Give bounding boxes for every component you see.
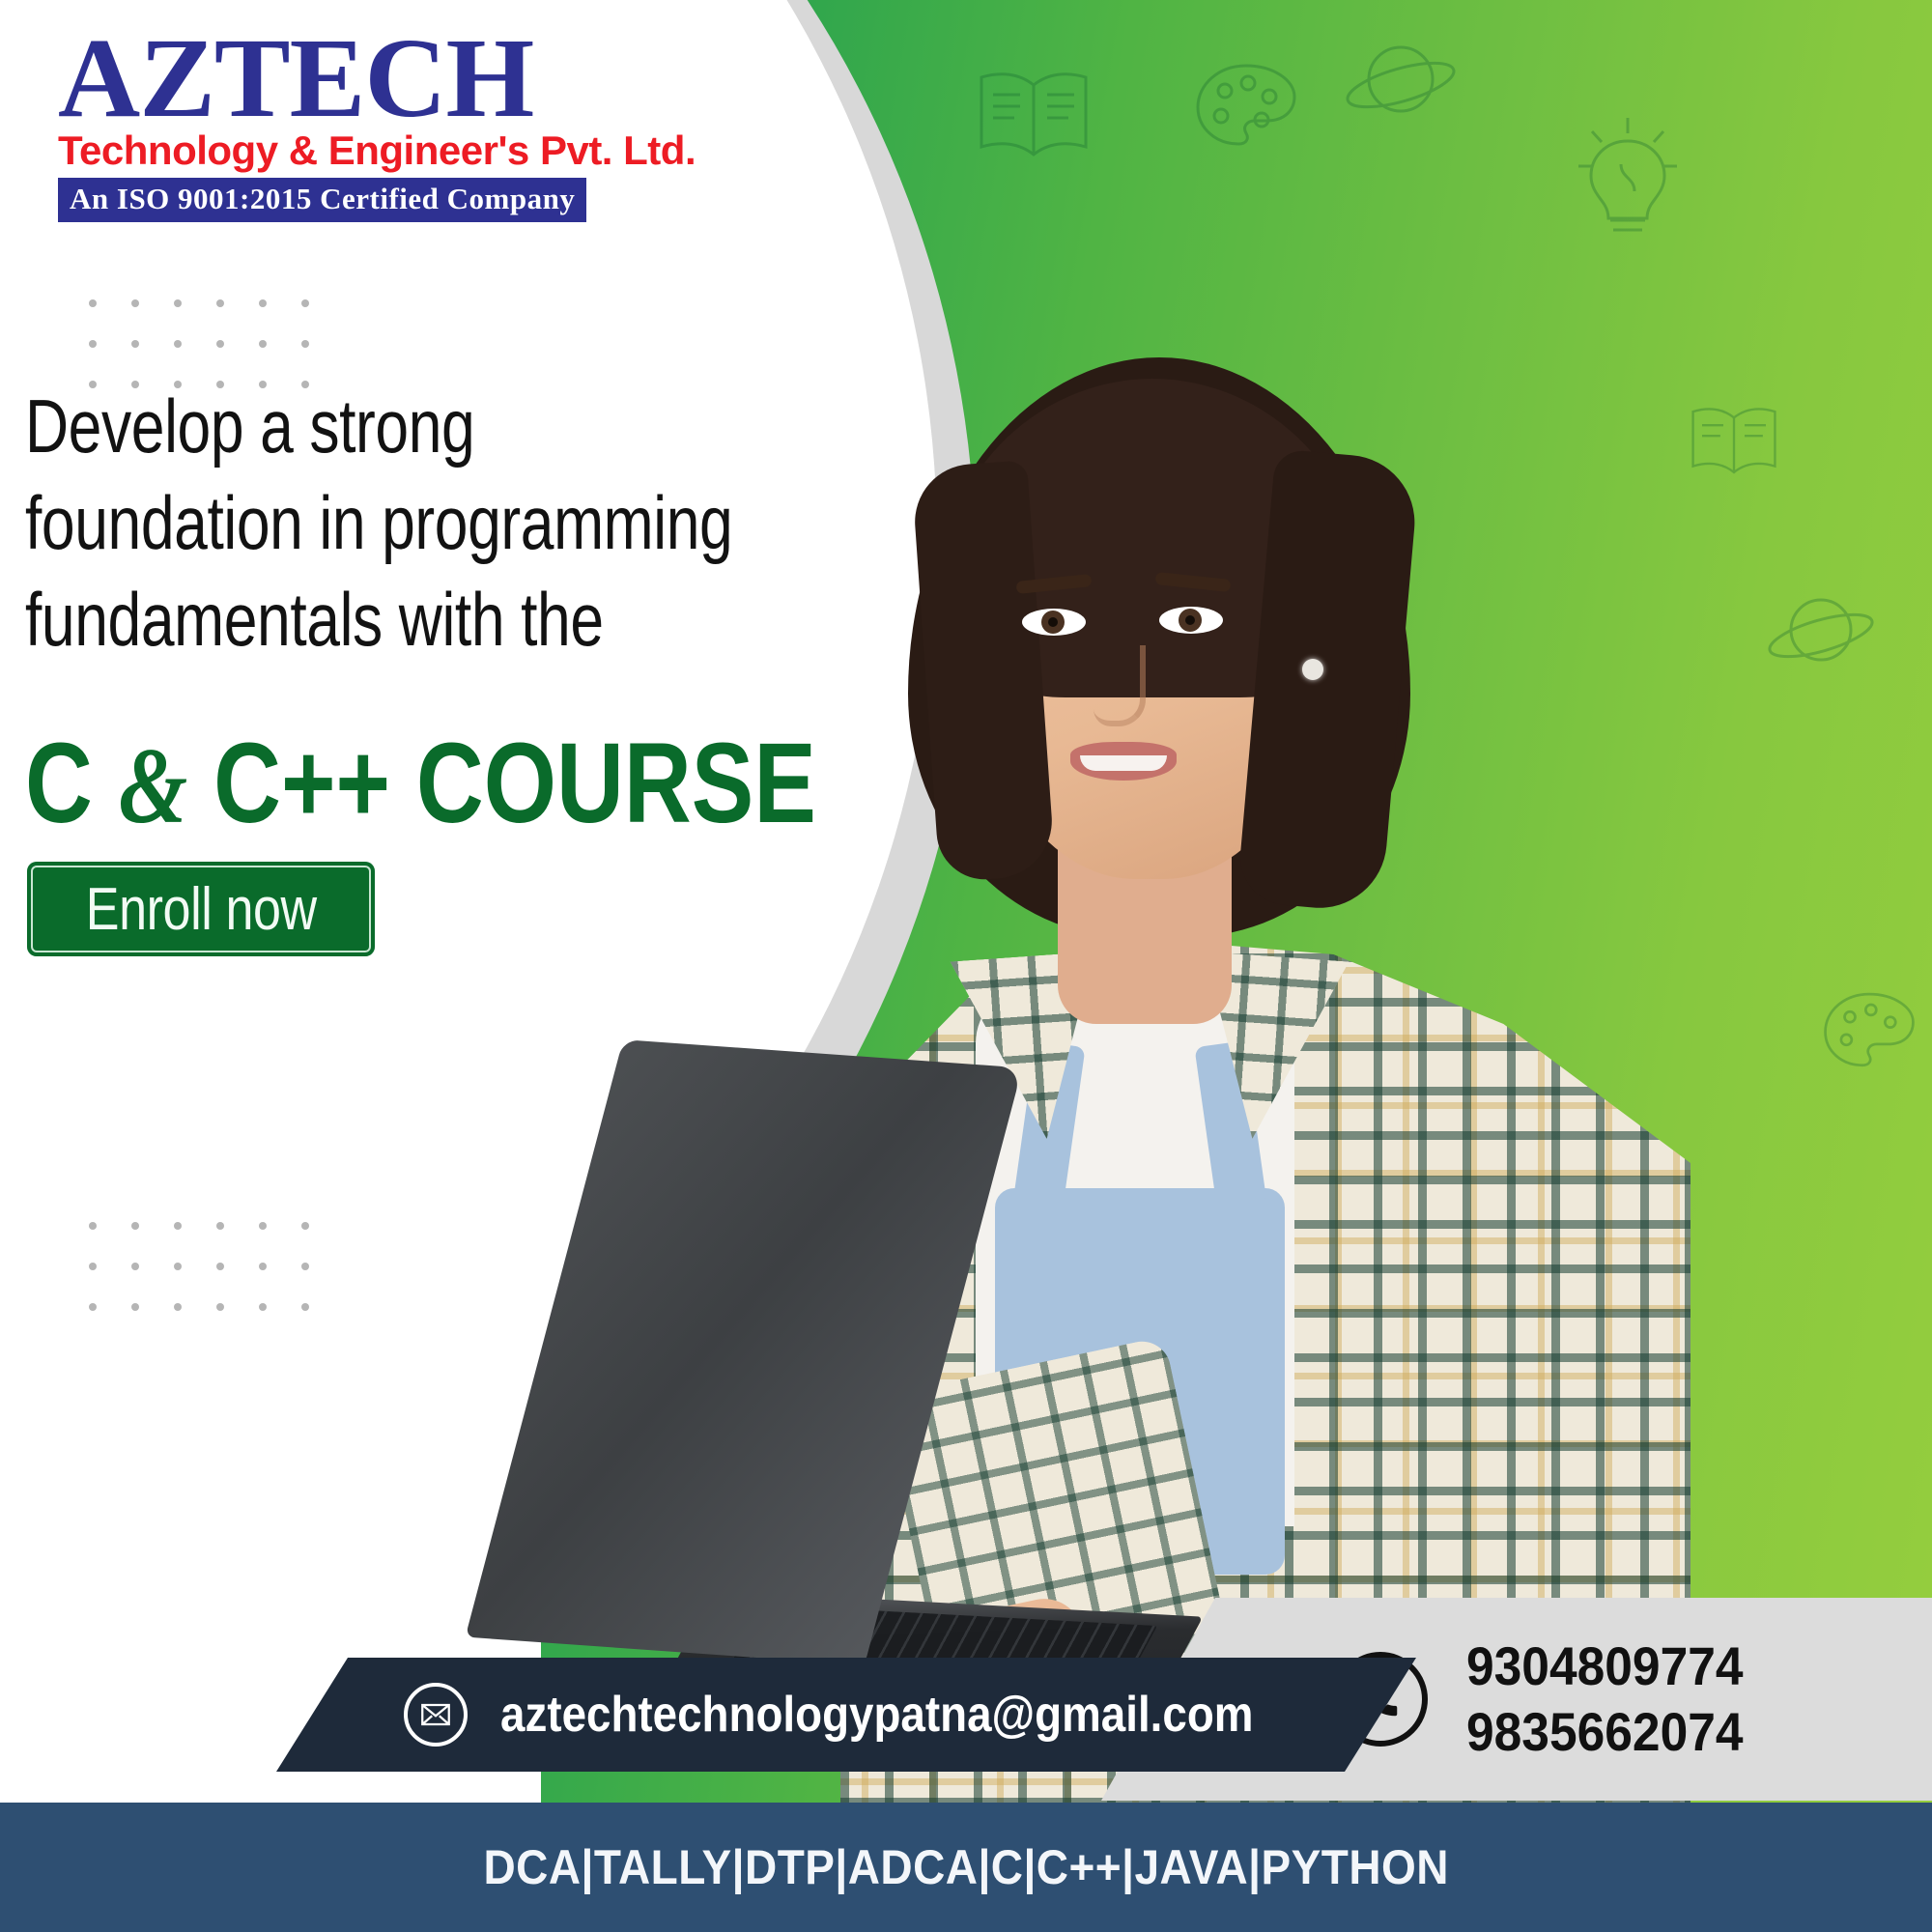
enroll-now-button[interactable]: Enroll now	[27, 862, 375, 956]
phone-number-1[interactable]: 9304809774	[1466, 1634, 1744, 1699]
dot-grid-bottom	[89, 1222, 309, 1311]
course-c: C	[25, 720, 93, 847]
footer-bar: DCA|TALLY|DTP|ADCA|C|C++|JAVA|PYTHON	[0, 1803, 1932, 1932]
headline-line-2: foundation in programming	[25, 475, 767, 572]
company-logo: AZTECH Technology & Engineer's Pvt. Ltd.…	[58, 21, 753, 222]
envelope-icon	[404, 1683, 468, 1747]
enroll-now-label: Enroll now	[86, 875, 317, 944]
phone-numbers: 9304809774 9835662074	[1466, 1634, 1744, 1766]
iso-certification-badge: An ISO 9001:2015 Certified Company	[58, 178, 586, 222]
course-word: COURSE	[416, 720, 816, 847]
logo-tagline: Technology & Engineer's Pvt. Ltd.	[58, 128, 753, 174]
footer-course-list: DCA|TALLY|DTP|ADCA|C|C++|JAVA|PYTHON	[483, 1839, 1448, 1895]
course-ampersand: &	[119, 726, 187, 846]
phone-number-2[interactable]: 9835662074	[1466, 1699, 1744, 1765]
course-title: C & C++ COURSE	[25, 726, 816, 840]
headline-text: Develop a strong foundation in programmi…	[25, 379, 767, 668]
dot-grid-top	[89, 299, 309, 388]
logo-wordmark: AZTECH	[58, 21, 753, 135]
email-address[interactable]: aztechtechnologypatna@gmail.com	[500, 1686, 1253, 1744]
poster-canvas: AZTECH Technology & Engineer's Pvt. Ltd.…	[0, 0, 1932, 1932]
email-contact-band: aztechtechnologypatna@gmail.com	[276, 1658, 1416, 1772]
headline-line-3: fundamentals with the	[25, 572, 767, 668]
course-cpp: C++	[213, 720, 390, 847]
headline-line-1: Develop a strong	[25, 379, 767, 475]
